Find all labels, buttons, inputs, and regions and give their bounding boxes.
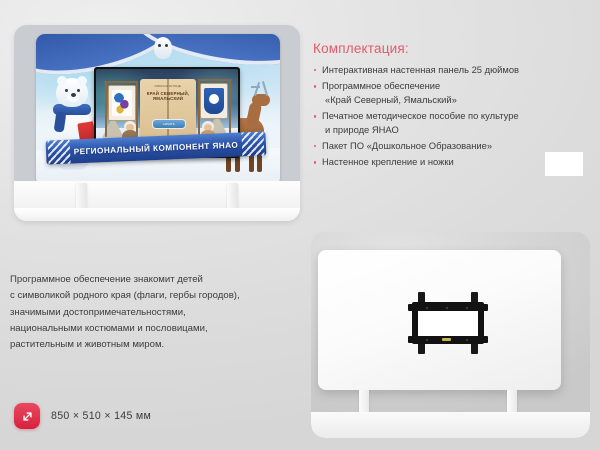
panel-leg (507, 390, 517, 414)
list-item-continuation: и природе ЯНАО (322, 123, 596, 136)
book-title: КРАЙ СЕВЕРНЫЙ, ЯМАЛЬСКИЙ (144, 91, 192, 102)
bear-nose (71, 93, 76, 97)
panel-leg (359, 390, 369, 414)
list-item: Пакет ПО «Дошкольное Образование» (313, 139, 596, 152)
panel-leg (76, 183, 87, 209)
bracket-label (442, 338, 451, 341)
kit-contents-heading: Комплектация: (313, 41, 596, 56)
snowy-owl-icon (154, 37, 172, 59)
bear-head (56, 78, 88, 107)
list-item-text: Интерактивная настенная панель 25 дюймов (322, 64, 519, 75)
list-item-continuation: «Край Северный, Ямальский» (322, 93, 596, 106)
list-item-text: Пакет ПО «Дошкольное Образование» (322, 140, 492, 151)
ribbon-ornament (48, 140, 71, 165)
bear-eye (65, 89, 68, 92)
product-info-page: РАБОЧАЯ ТЕТРАДЬ КРАЙ СЕВЕРНЫЙ, ЯМАЛЬСКИЙ… (0, 0, 600, 450)
wall-mount-bracket (406, 292, 490, 354)
banner-crossbar (198, 79, 232, 81)
banner-crossbar (104, 81, 138, 83)
description-line: Программное обеспечение знакомит детей (10, 272, 310, 288)
list-item: Печатное методическое пособие по культур… (313, 109, 596, 136)
app-start-button-label: НАЧАТЬ (153, 120, 185, 128)
list-item-text: Настенное крепление и ножки (322, 156, 454, 167)
list-item-text: Программное обеспечение (322, 80, 440, 91)
owl-eye (165, 44, 168, 47)
surface-shelf (311, 412, 590, 438)
book-title-line2: ЯМАЛЬСКИЙ (153, 96, 183, 101)
app-start-button[interactable]: НАЧАТЬ (152, 119, 186, 129)
coat-of-arms-image (204, 88, 224, 114)
banner-pole (229, 79, 231, 137)
region-map-image (112, 90, 132, 116)
map-banner[interactable] (108, 85, 136, 121)
banner-pole (105, 81, 107, 137)
list-item: Интерактивная настенная панель 25 дюймов (313, 63, 596, 76)
product-scene: РАБОЧАЯ ТЕТРАДЬ КРАЙ СЕВЕРНЫЙ, ЯМАЛЬСКИЙ… (14, 25, 300, 221)
panel-artwork: РАБОЧАЯ ТЕТРАДЬ КРАЙ СЕВЕРНЫЙ, ЯМАЛЬСКИЙ… (36, 34, 280, 186)
coat-of-arms-emblem (209, 94, 219, 104)
owl-eye (158, 44, 161, 47)
bear-ear (57, 76, 67, 86)
panel-stand-area (14, 181, 300, 221)
deer-antler (251, 86, 260, 88)
product-photo-front: РАБОЧАЯ ТЕТРАДЬ КРАЙ СЕВЕРНЫЙ, ЯМАЛЬСКИЙ… (14, 25, 300, 221)
panel-leg (227, 183, 238, 209)
bear-ear (77, 76, 87, 86)
blank-white-box (545, 152, 583, 176)
description-paragraph: Программное обеспечение знакомит детей с… (10, 272, 310, 353)
coat-of-arms-banner[interactable] (200, 83, 228, 119)
description-line: национальными костюмами и пословицами, (10, 321, 310, 337)
ribbon-ornament (241, 131, 264, 156)
product-photo-back (311, 232, 590, 438)
list-item-text: Печатное методическое пособие по культур… (322, 110, 519, 121)
resize-diagonal-icon (14, 403, 40, 429)
owl-body (154, 37, 172, 59)
dimensions-badge: 850 × 510 × 145 мм (14, 403, 151, 429)
book-subtitle: РАБОЧАЯ ТЕТРАДЬ (144, 84, 192, 88)
ribbon-label: РЕГИОНАЛЬНЫЙ КОМПОНЕНТ ЯНАО (74, 140, 239, 156)
description-line: значимыми достопримечательностями, (10, 305, 310, 321)
description-line: с символикой родного края (флаги, гербы … (10, 288, 310, 304)
dimensions-value: 850 × 510 × 145 мм (51, 410, 151, 422)
surface-shelf (14, 208, 300, 221)
book-title-line1: КРАЙ СЕВЕРНЫЙ, (147, 91, 190, 96)
bear-eye (77, 89, 80, 92)
list-item: Программное обеспечение «Край Северный, … (313, 79, 596, 106)
description-line: растительным и животным миром. (10, 337, 310, 353)
